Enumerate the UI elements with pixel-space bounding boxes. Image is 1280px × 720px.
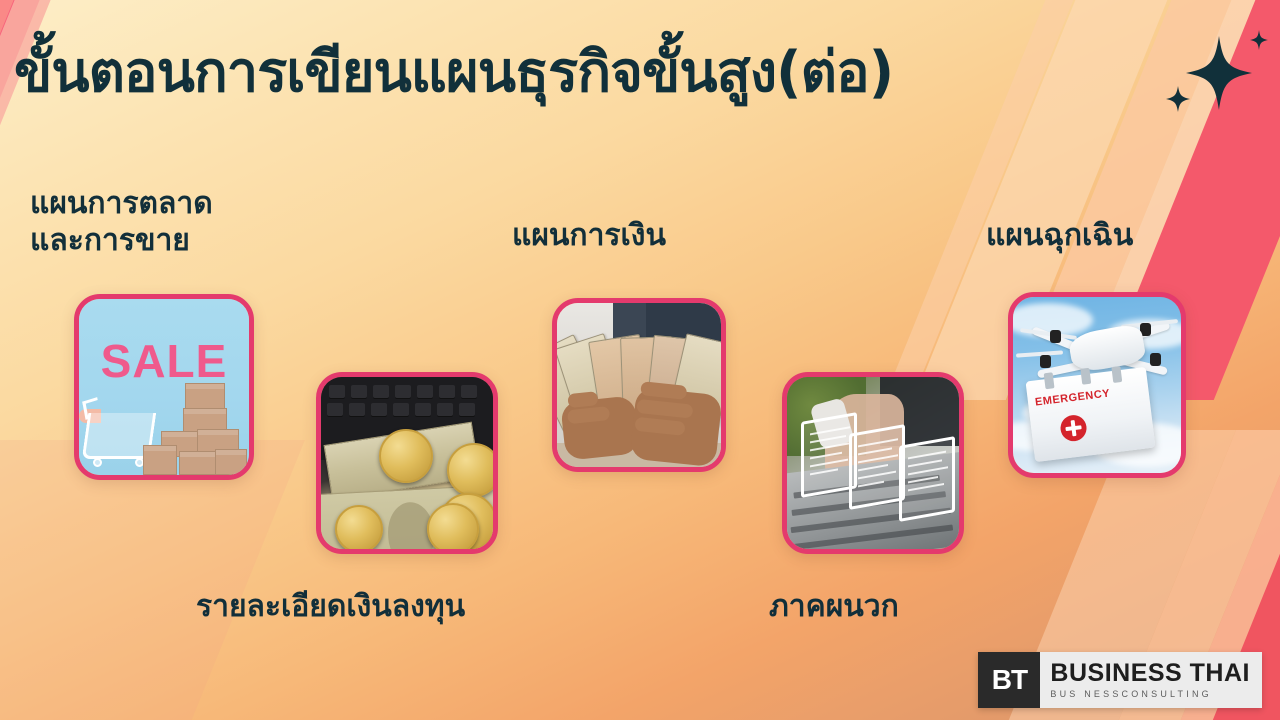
emergency-medical-box: EMERGENCY xyxy=(1025,367,1155,462)
sparkle-small-icon xyxy=(1166,86,1190,112)
gold-coin xyxy=(335,505,383,549)
cart-wheel xyxy=(93,458,102,467)
label-line-2: และการขาย xyxy=(30,223,213,260)
drone-motor xyxy=(1150,353,1161,366)
emergency-text: EMERGENCY xyxy=(1034,388,1110,409)
label-line-1: แผนการตลาด xyxy=(30,186,213,223)
drone-motor xyxy=(1050,330,1061,343)
sale-text: SALE xyxy=(101,334,228,388)
label-financial-plan: แผนการเงิน xyxy=(512,218,666,255)
gold-coin xyxy=(427,503,479,549)
box-latch xyxy=(1080,368,1091,385)
gold-coin xyxy=(379,429,433,483)
label-appendix: ภาคผนวก xyxy=(769,589,899,626)
label-marketing-sales-plan: แผนการตลาด และการขาย xyxy=(30,186,213,259)
gold-coin xyxy=(447,443,493,497)
logo-text-block: BUSINESS THAI BUS NESSCONSULTING xyxy=(1040,652,1262,708)
logo-mark-bt: BT xyxy=(978,652,1040,708)
document-icon xyxy=(849,424,905,510)
drone-emergency-box-photo: EMERGENCY xyxy=(1013,297,1181,473)
sale-shopping-cart-boxes-photo: SALE xyxy=(79,299,249,475)
label-emergency-plan: แผนฉุกเฉิน xyxy=(986,218,1133,255)
drone-motor xyxy=(1040,355,1051,368)
image-card-emergency-plan: EMERGENCY xyxy=(1008,292,1186,478)
image-card-marketing-sales: SALE xyxy=(74,294,254,480)
image-card-financial-plan xyxy=(552,298,726,472)
right-hand xyxy=(629,387,721,467)
brand-logo: BT BUSINESS THAI BUS NESSCONSULTING xyxy=(978,652,1262,708)
image-card-appendix xyxy=(782,372,964,554)
box-latch xyxy=(1044,373,1055,390)
logo-tagline: BUS NESSCONSULTING xyxy=(1050,689,1250,699)
hands-holding-banknotes-photo xyxy=(557,303,721,467)
bottom-left-wash xyxy=(0,440,305,720)
logo-company-name: BUSINESS THAI xyxy=(1050,661,1250,686)
label-investment-details: รายละเอียดเงินลงทุน xyxy=(196,589,465,626)
laptop-documents-photo xyxy=(787,377,959,549)
box-latch xyxy=(1111,366,1122,383)
page-title: ขั้นตอนการเขียนแผนธุรกิจขั้นสูง(ต่อ) xyxy=(14,42,893,104)
left-hand xyxy=(560,395,640,460)
sparkle-large-icon xyxy=(1186,36,1252,110)
image-card-investment-details xyxy=(316,372,498,554)
document-icon xyxy=(899,436,955,522)
sparkle-tiny-icon xyxy=(1250,30,1268,50)
medical-cross-icon xyxy=(1059,414,1088,443)
cash-gold-coins-keyboard-photo xyxy=(321,377,493,549)
cardboard-boxes xyxy=(143,383,247,475)
